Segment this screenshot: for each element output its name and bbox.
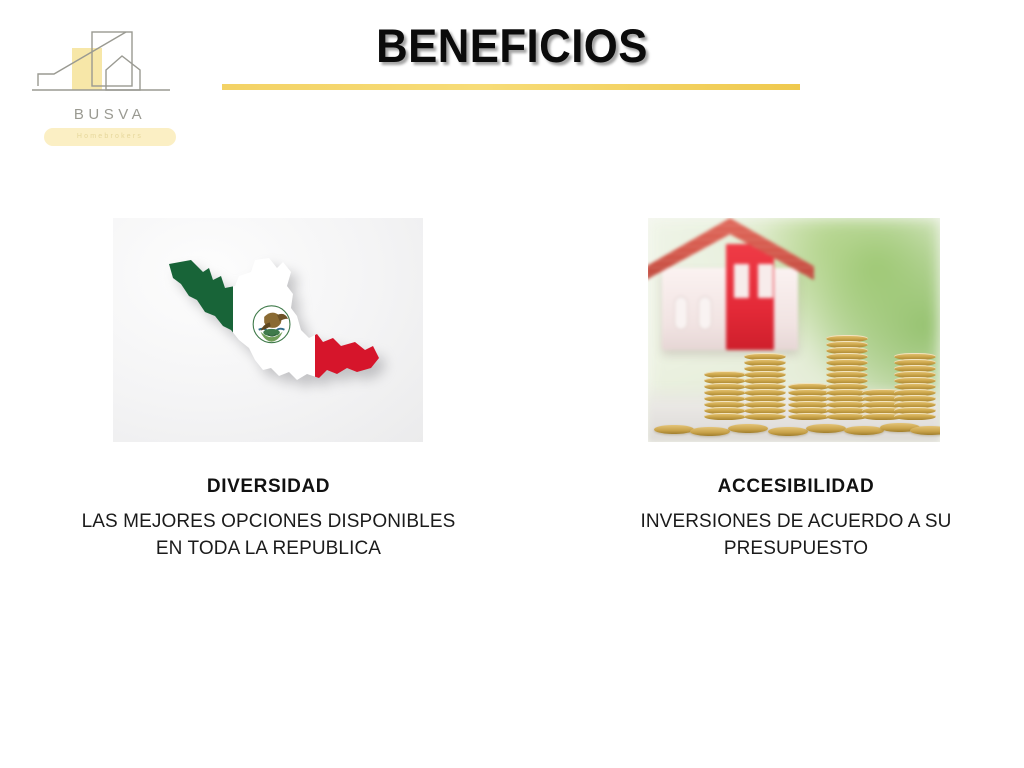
house-with-coin-stacks-image <box>648 218 940 442</box>
coin-stack <box>704 372 746 420</box>
logo-tagline-highlight: Homebrokers <box>44 128 176 146</box>
mexico-silhouette <box>151 242 391 422</box>
benefit-card-diversidad: DIVERSIDAD LAS MEJORES OPCIONES DISPONIB… <box>113 218 423 442</box>
coin-stack <box>788 384 830 420</box>
title-underline-rule <box>222 84 800 90</box>
benefit-heading: ACCESIBILIDAD <box>596 476 996 498</box>
logo-tagline: Homebrokers <box>44 128 176 146</box>
slide-canvas: BUSVA Homebrokers BENEFICIOS <box>0 0 1024 768</box>
benefit-caption: DIVERSIDAD LAS MEJORES OPCIONES DISPONIB… <box>41 476 496 563</box>
model-house-icon <box>648 218 812 350</box>
benefit-line-1: LAS MEJORES OPCIONES DISPONIBLES <box>41 508 496 535</box>
coin-stack <box>744 354 786 420</box>
benefit-line-2: EN TODA LA REPUBLICA <box>41 535 496 562</box>
benefit-caption: ACCESIBILIDAD INVERSIONES DE ACUERDO A S… <box>596 476 996 563</box>
benefit-heading: DIVERSIDAD <box>41 476 496 498</box>
logo-brand-name: BUSVA <box>30 106 190 123</box>
benefit-line-2: PRESUPUESTO <box>596 535 996 562</box>
scene <box>648 218 940 442</box>
page-title: BENEFICIOS <box>36 18 988 73</box>
mexico-map-flag-image <box>113 218 423 442</box>
benefit-card-accesibilidad: ACCESIBILIDAD INVERSIONES DE ACUERDO A S… <box>648 218 940 442</box>
coin-stack <box>894 354 936 420</box>
benefit-line-1: INVERSIONES DE ACUERDO A SU <box>596 508 996 535</box>
